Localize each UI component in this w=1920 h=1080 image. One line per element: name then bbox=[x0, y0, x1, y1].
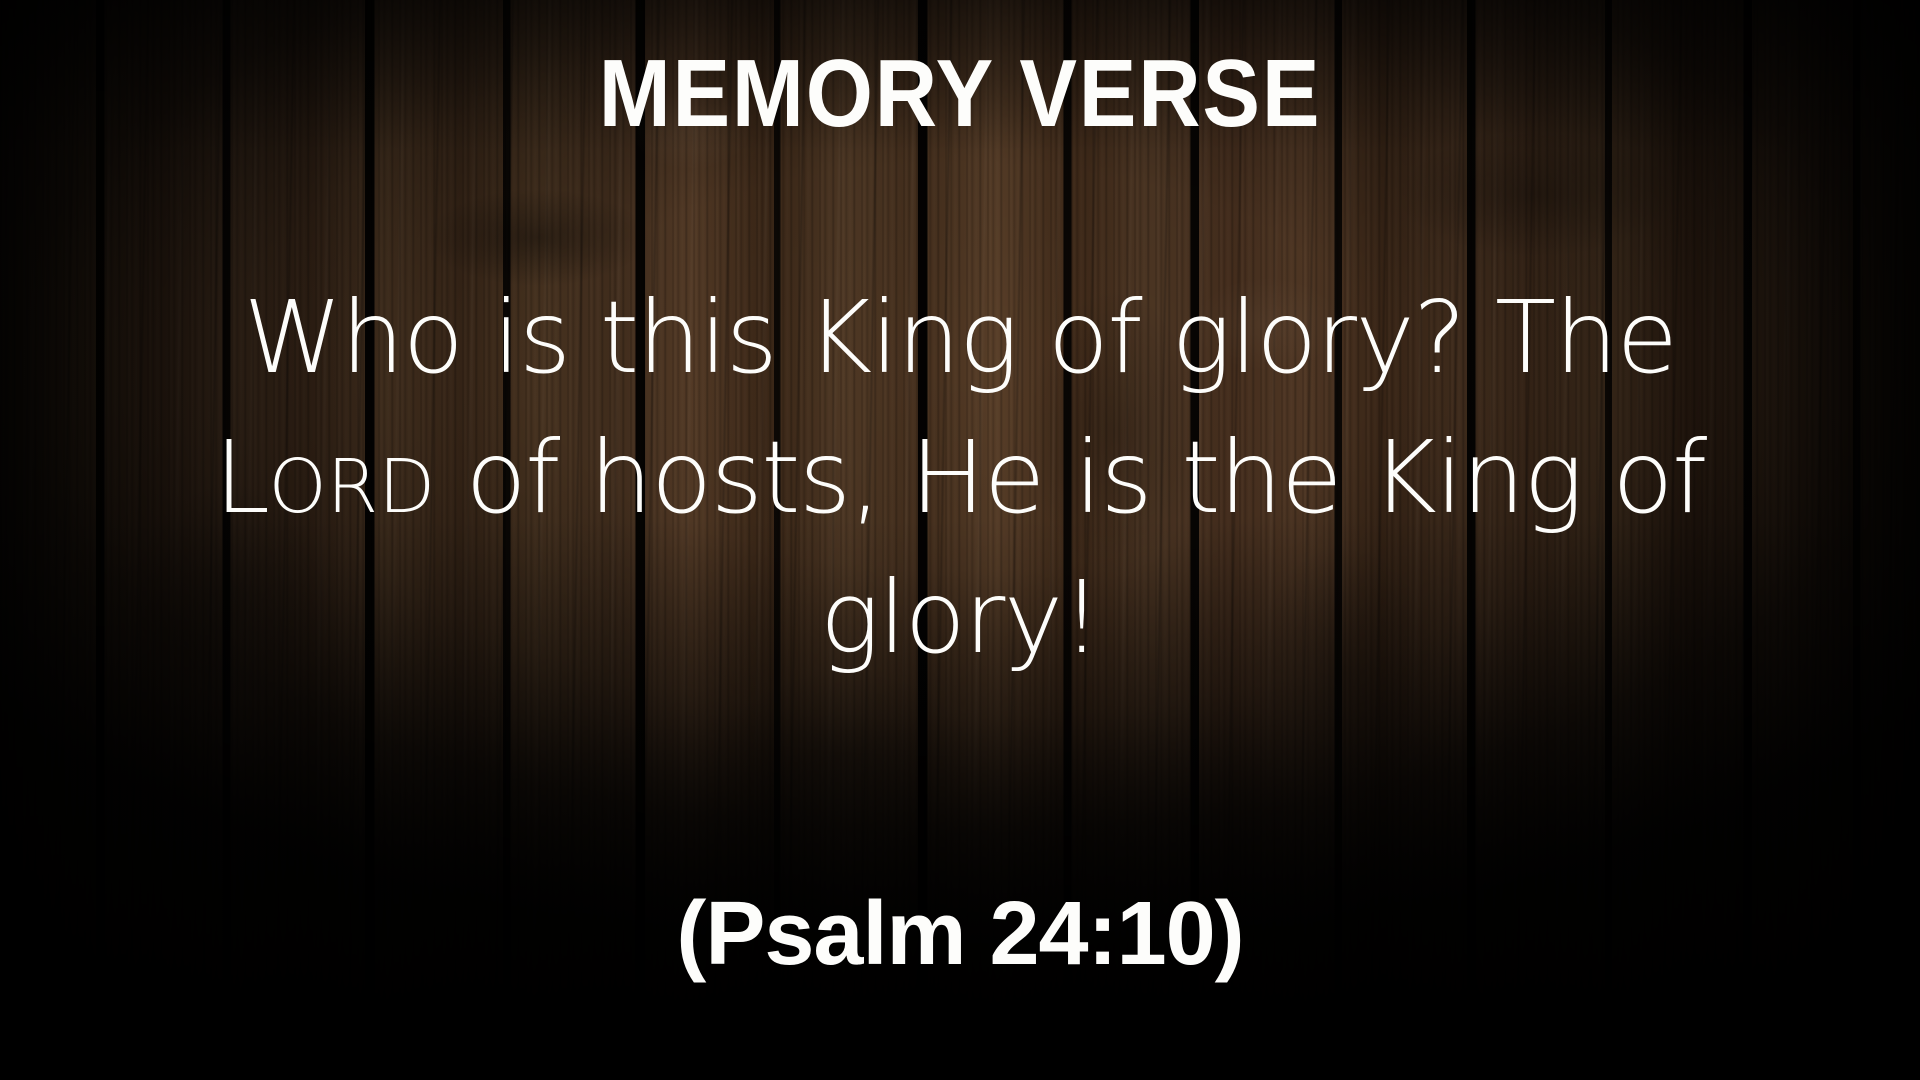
memory-verse-slide: MEMORY VERSE Who is this King of glory? … bbox=[0, 0, 1920, 1080]
divine-name-smallcaps: ORD bbox=[269, 444, 436, 530]
page-title: MEMORY VERSE bbox=[96, 44, 1824, 145]
verse-text-after-lord: of hosts, He is the King of glory! bbox=[435, 419, 1706, 676]
divine-name-initial: L bbox=[214, 419, 268, 536]
slide-content: MEMORY VERSE Who is this King of glory? … bbox=[0, 0, 1920, 1080]
scripture-reference: (Psalm 24:10) bbox=[0, 885, 1920, 984]
verse-text: Who is this King of glory? The LORD of h… bbox=[138, 268, 1782, 688]
verse-text-before-lord: Who is this King of glory? The bbox=[244, 279, 1677, 396]
